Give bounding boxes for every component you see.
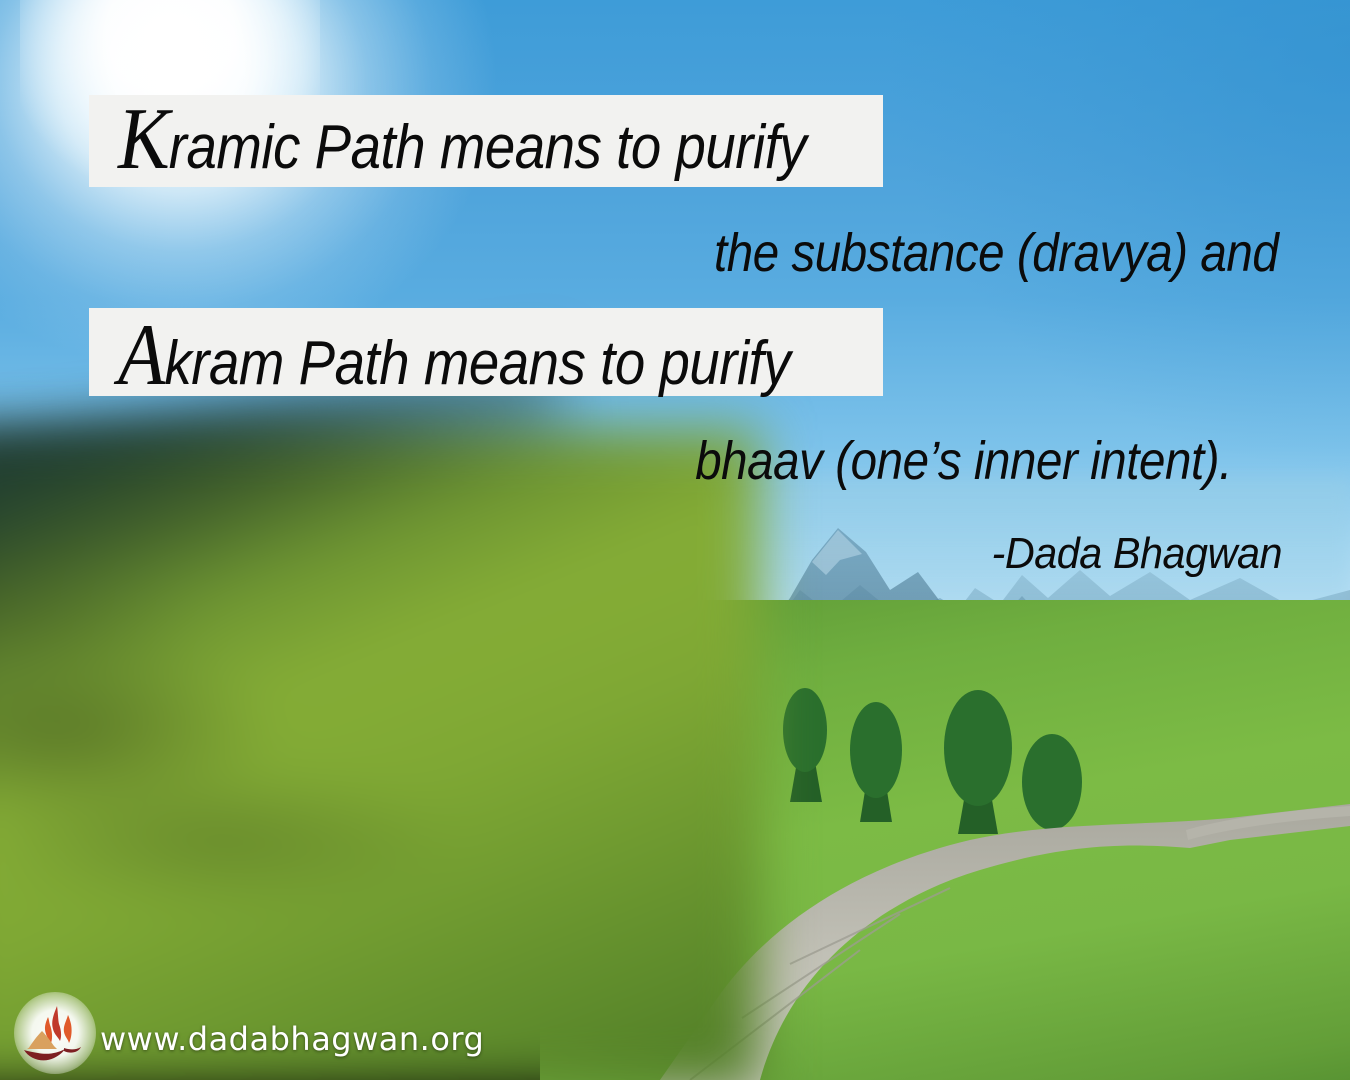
website-url[interactable]: www.dadabhagwan.org [100,1020,484,1058]
quote-line-4-text: bhaav (one’s inner intent). [695,431,1232,491]
diya-flame-icon [20,998,90,1068]
quote-line-1-text: ramic Path means to purify [169,113,806,182]
quote-line-3-text: kram Path means to purify [164,329,790,398]
quote-line-1-dropcap: K [118,91,169,188]
quote-line-4: bhaav (one’s inner intent). [695,422,1232,500]
quote-block: Kramic Path means to purify the substanc… [0,0,1350,620]
quote-line-3: Akram Path means to purify [118,312,790,408]
footer: www.dadabhagwan.org [0,984,1350,1080]
quote-line-2: the substance (dravya) and [714,214,1278,292]
quote-card: Kramic Path means to purify the substanc… [0,0,1350,1080]
quote-line-3-dropcap: A [118,307,164,404]
quote-line-2-text: the substance (dravya) and [714,223,1278,283]
quote-line-1: Kramic Path means to purify [118,96,806,192]
quote-attribution: -Dada Bhagwan [991,522,1282,586]
brand-logo[interactable] [20,998,90,1068]
